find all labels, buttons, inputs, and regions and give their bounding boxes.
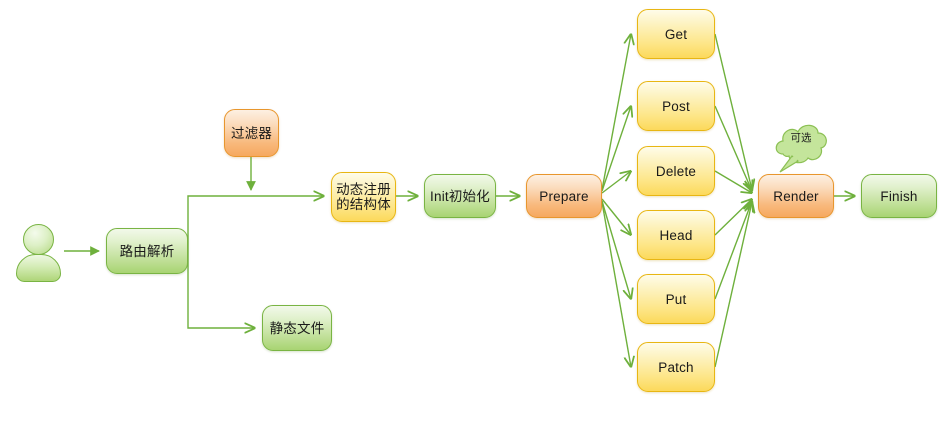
cloud-shape-icon <box>770 120 832 180</box>
node-dynamic-register-label: 动态注册 的结构体 <box>332 182 395 212</box>
node-method-head[interactable]: Head <box>637 210 715 260</box>
edge-patch-render <box>715 202 752 367</box>
edge-prepare-put <box>602 201 631 299</box>
node-method-post[interactable]: Post <box>637 81 715 131</box>
node-render-label: Render <box>769 189 822 204</box>
edge-prepare-post <box>602 106 631 191</box>
node-method-get-label: Get <box>661 27 691 42</box>
optional-cloud-callout[interactable]: 可选 <box>770 120 832 162</box>
user-actor-icon <box>14 224 62 280</box>
edge-post-render <box>715 106 752 191</box>
edge-prepare-delete <box>602 171 631 193</box>
flowchart-canvas: 路由解析 过滤器 静态文件 动态注册 的结构体 Init初始化 Prepare … <box>0 0 951 448</box>
node-dynamic-register[interactable]: 动态注册 的结构体 <box>331 172 396 222</box>
node-static-file-label: 静态文件 <box>266 321 329 336</box>
node-method-get[interactable]: Get <box>637 9 715 59</box>
node-finish-label: Finish <box>876 189 921 204</box>
node-route[interactable]: 路由解析 <box>106 228 188 274</box>
node-method-head-label: Head <box>655 228 696 243</box>
edge-head-render <box>715 199 752 235</box>
edge-delete-render <box>715 171 752 193</box>
node-method-delete-label: Delete <box>652 164 700 179</box>
edge-route-static <box>188 251 255 328</box>
node-method-patch[interactable]: Patch <box>637 342 715 392</box>
actor-head-icon <box>23 224 54 255</box>
node-method-delete[interactable]: Delete <box>637 146 715 196</box>
node-method-patch-label: Patch <box>654 360 698 375</box>
node-render[interactable]: Render <box>758 174 834 218</box>
node-filter[interactable]: 过滤器 <box>224 109 279 157</box>
node-method-put-label: Put <box>662 292 691 307</box>
actor-body-icon <box>16 254 61 282</box>
node-prepare-label: Prepare <box>535 189 592 204</box>
edge-layer <box>0 0 951 448</box>
node-prepare[interactable]: Prepare <box>526 174 602 218</box>
edge-prepare-head <box>602 199 631 235</box>
node-static-file[interactable]: 静态文件 <box>262 305 332 351</box>
optional-cloud-label: 可选 <box>770 130 832 145</box>
edge-route-dynreg <box>188 196 324 251</box>
node-init[interactable]: Init初始化 <box>424 174 496 218</box>
edge-prepare-get <box>602 34 631 190</box>
node-filter-label: 过滤器 <box>227 126 276 141</box>
node-init-label: Init初始化 <box>426 189 494 204</box>
edge-get-render <box>715 34 752 190</box>
edge-prepare-patch <box>602 202 631 367</box>
node-method-post-label: Post <box>658 99 694 114</box>
node-finish[interactable]: Finish <box>861 174 937 218</box>
node-method-put[interactable]: Put <box>637 274 715 324</box>
node-route-label: 路由解析 <box>116 244 179 259</box>
edge-put-render <box>715 201 752 299</box>
